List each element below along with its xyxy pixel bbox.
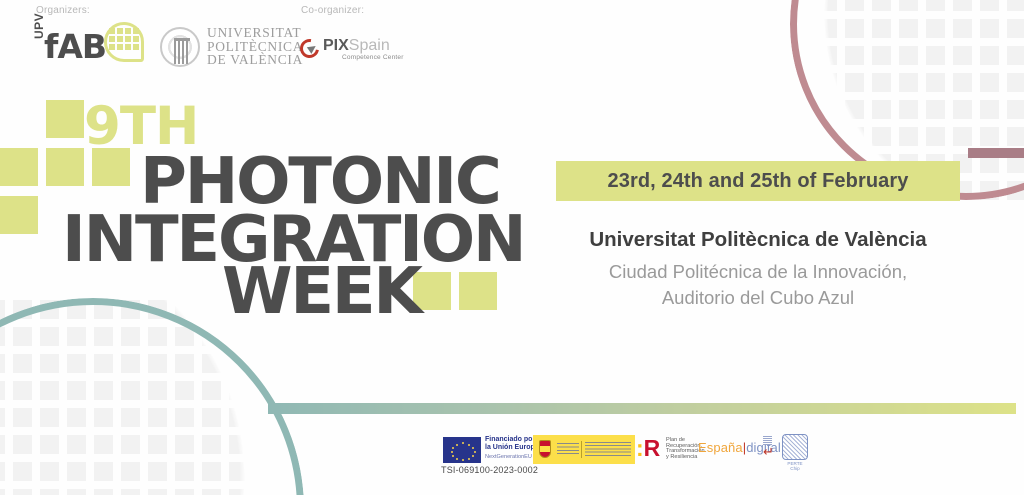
decorative-gradient-bar bbox=[268, 403, 1016, 414]
ministry-label-lines bbox=[585, 442, 631, 457]
decorative-bar-right bbox=[968, 148, 1024, 158]
event-dates-text: 23rd, 24th and 25th of February bbox=[608, 170, 909, 193]
upv-logo-line2: POLITÈCNICA bbox=[207, 40, 303, 54]
perte-line2: Chip bbox=[782, 466, 808, 471]
spain-coat-of-arms-icon bbox=[539, 440, 551, 458]
gobierno-label-lines bbox=[557, 443, 579, 455]
perte-chip-icon bbox=[782, 434, 808, 460]
venue-detail-line2: Auditorio del Cubo Azul bbox=[520, 285, 996, 311]
prtr-line4: y Resiliencia bbox=[666, 455, 705, 461]
pix-wordmark: PIXSpain bbox=[323, 37, 390, 55]
coorganizer-label: Co-organizer: bbox=[301, 5, 364, 16]
event-banner: Organizers: Co-organizer: UPV fAB UNIVER… bbox=[0, 0, 1024, 495]
logo-universitat-politecnica: UNIVERSITAT POLITÈCNICA DE VALÈNCIA bbox=[160, 25, 300, 70]
event-dates-banner: 23rd, 24th and 25th of February bbox=[556, 161, 960, 201]
pix-name-main: PIX bbox=[323, 37, 349, 54]
fab-dots-icon bbox=[109, 28, 139, 50]
event-venue: Universitat Politècnica de València bbox=[556, 228, 960, 252]
gobierno-divider bbox=[581, 441, 582, 458]
pix-name-light: Spain bbox=[349, 37, 390, 54]
logo-gobierno-de-espana bbox=[533, 435, 635, 464]
espana-digital-part1: España bbox=[698, 440, 743, 455]
logo-pix-spain: PIXSpain Competence Center bbox=[300, 37, 405, 67]
logo-upv-fab: UPV fAB bbox=[30, 23, 140, 71]
prtr-mark-icon: :R bbox=[636, 437, 660, 460]
logo-perte-chip: PERTE Chip bbox=[782, 434, 816, 468]
upv-fab-wordmark: fAB bbox=[44, 27, 106, 66]
eu-funding-line3: NextGenerationEU bbox=[485, 454, 532, 460]
footer-funding-logos: Financiado por la Unión Europea NextGene… bbox=[0, 430, 1024, 495]
upv-logo-line3: DE VALÈNCIA bbox=[207, 53, 303, 67]
pix-subtitle: Competence Center bbox=[342, 54, 404, 61]
event-venue-detail: Ciudad Politécnica de la Innovación, Aud… bbox=[520, 259, 996, 311]
eu-flag-icon bbox=[443, 437, 481, 463]
title-line-week: WEEK bbox=[222, 262, 421, 322]
venue-detail-line1: Ciudad Politécnica de la Innovación, bbox=[520, 259, 996, 285]
upv-seal-icon bbox=[160, 27, 200, 67]
upv-logo-line1: UNIVERSITAT bbox=[207, 26, 303, 40]
arrow-glyph-icon: ↵ bbox=[763, 446, 774, 457]
upv-logo-text: UNIVERSITAT POLITÈCNICA DE VALÈNCIA bbox=[207, 26, 303, 67]
espana-digital-mark-icon: ↵ bbox=[763, 436, 775, 456]
pix-arc-icon bbox=[296, 35, 322, 61]
perte-chip-label: PERTE Chip bbox=[782, 461, 808, 471]
prtr-letter: R bbox=[644, 435, 661, 461]
eu-stars-icon bbox=[444, 438, 480, 462]
grant-code: TSI-069100-2023-0002 bbox=[441, 465, 538, 475]
